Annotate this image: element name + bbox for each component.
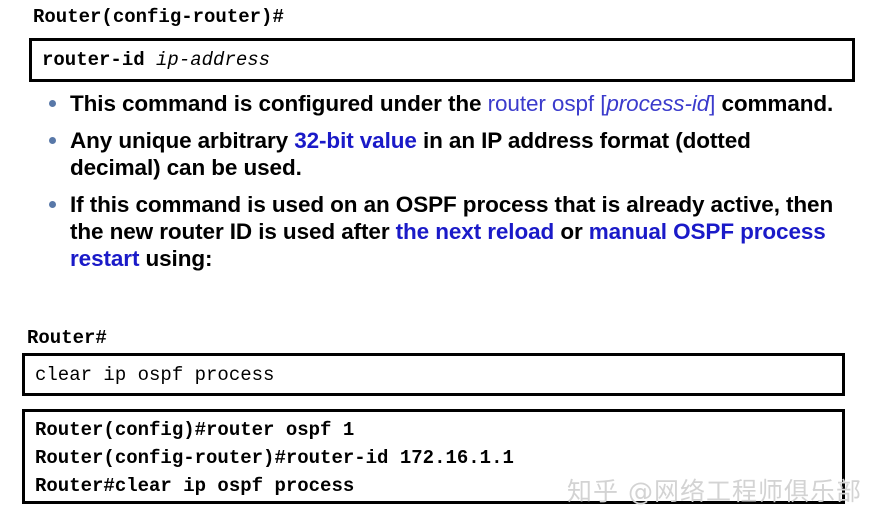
syntax-command-line: router-id ip-address (42, 46, 842, 74)
list-item: If this command is used on an OSPF proce… (40, 191, 840, 272)
bullet-1-text-part-2: command. (715, 91, 833, 116)
slide-canvas: Router(config-router)# router-id ip-addr… (0, 0, 878, 520)
config-router-prompt-label: Router(config-router)# (33, 6, 284, 28)
exec-prompt-label: Router# (27, 327, 107, 349)
clear-command-line: clear ip ospf process (35, 361, 832, 389)
bullet-list: This command is configured under the rou… (40, 90, 840, 272)
example-line-2: Router(config-router)#router-id 172.16.1… (35, 444, 832, 472)
bullet-1-link-prefix: router ospf [ (488, 91, 607, 116)
bullet-dot-icon (49, 201, 56, 208)
example-line-1: Router(config)#router ospf 1 (35, 416, 832, 444)
example-line-3: Router#clear ip ospf process (35, 472, 832, 500)
syntax-command-argument: ip-address (156, 49, 270, 71)
bullet-1-link: router ospf [process-id] (488, 91, 716, 116)
example-config-box: Router(config)#router ospf 1 Router(conf… (22, 409, 845, 504)
bullet-dot-icon (49, 100, 56, 107)
bullet-1-text-part-1: This command is configured under the (70, 91, 488, 116)
bullet-2-highlight: 32-bit value (294, 128, 417, 153)
bullet-3-highlight-reload: the next reload (396, 219, 555, 244)
bullet-1-link-italic: process-id (606, 91, 709, 116)
syntax-command-keyword: router-id (42, 49, 145, 71)
bullet-dot-icon (49, 137, 56, 144)
syntax-command-box: router-id ip-address (29, 38, 855, 82)
list-item: This command is configured under the rou… (40, 90, 840, 117)
bullet-2-text-part-1: Any unique arbitrary (70, 128, 294, 153)
bullet-3-text-part-3: using: (139, 246, 212, 271)
list-item: Any unique arbitrary 32-bit value in an … (40, 127, 840, 181)
bullet-3-text-part-2: or (554, 219, 589, 244)
clear-command-box: clear ip ospf process (22, 353, 845, 396)
